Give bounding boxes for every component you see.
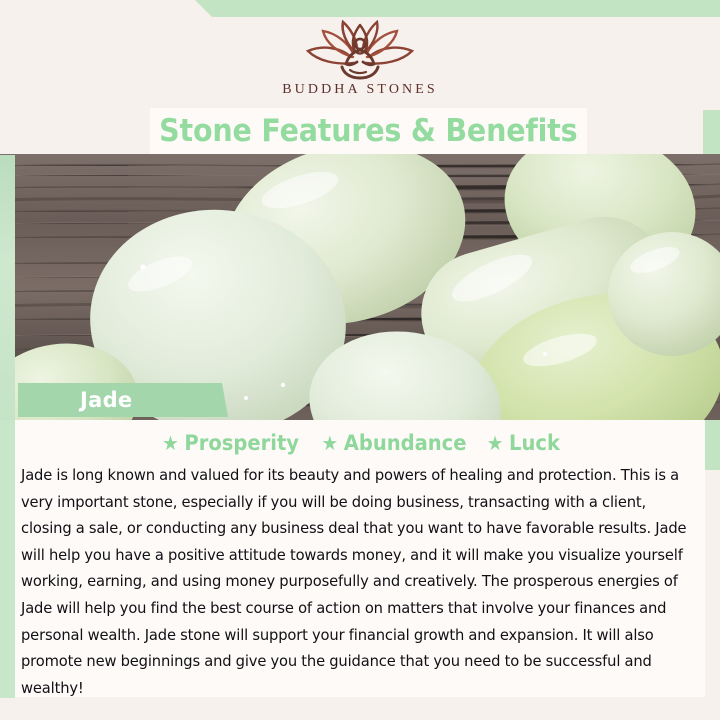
benefit-item-prosperity: ★ Prosperity [162,431,299,455]
stone-name: Jade [80,388,132,412]
stone-name-band: Jade [18,383,228,417]
lotus-meditation-icon [296,19,424,81]
description-card: ★ Prosperity ★ Abundance ★ Luck Jade is … [15,420,705,697]
top-green-accent-bar [0,0,720,17]
description-text: Jade is long known and valued for its be… [21,462,695,701]
star-icon: ★ [322,433,339,453]
star-icon: ★ [487,433,504,453]
benefits-row: ★ Prosperity ★ Abundance ★ Luck [15,428,705,458]
benefit-label: Abundance [344,431,467,455]
bottom-spacer [0,698,720,720]
brand-header: BUDDHA STONES [0,17,720,110]
infographic-page: BUDDHA STONES Stone Features & Benefits [0,0,720,720]
benefit-item-luck: ★ Luck [487,431,560,455]
left-green-accent-overlay [0,155,15,420]
page-title: Stone Features & Benefits [159,113,577,149]
benefit-label: Prosperity [184,431,299,455]
star-icon: ★ [162,433,179,453]
jade-stones-photo [0,154,720,420]
brand-name: BUDDHA STONES [282,82,438,98]
benefit-label: Luck [509,431,560,455]
title-banner: Stone Features & Benefits [150,108,587,154]
photo-illustration [0,154,720,420]
benefit-item-abundance: ★ Abundance [322,431,467,455]
